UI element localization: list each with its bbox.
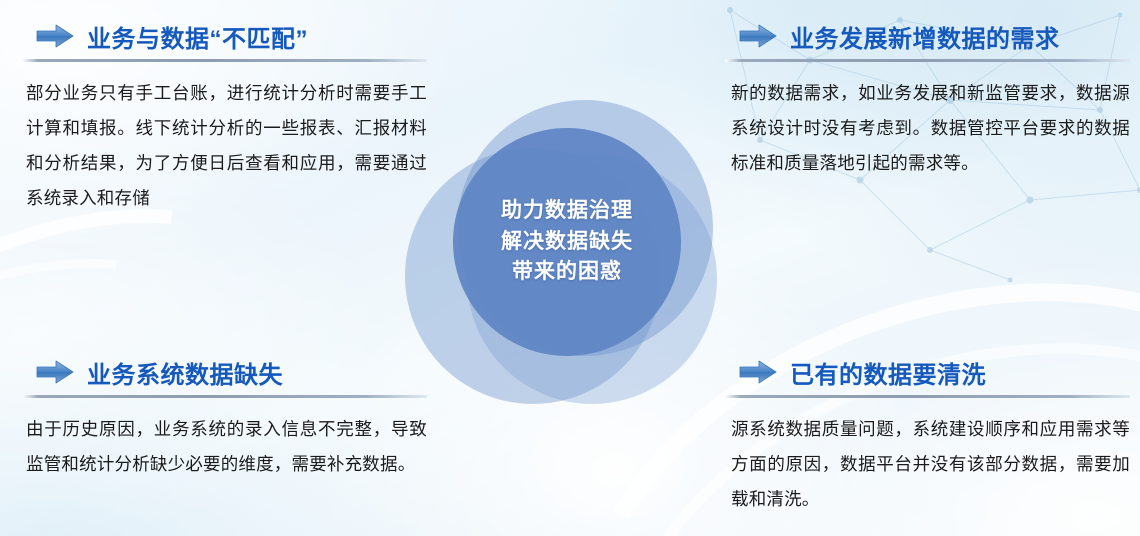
block-top-right-header: 业务发展新增数据的需求: [725, 16, 1130, 56]
block-bottom-right-header: 已有的数据要清洗: [725, 352, 1130, 392]
arrow-right-icon: [739, 359, 777, 385]
block-bottom-left-body: 由于历史原因，业务系统的录入信息不完整，导致监管和统计分析缺少必要的维度，需要补…: [22, 412, 427, 482]
block-bottom-left-header: 业务系统数据缺失: [22, 352, 427, 392]
center-circle-cluster: 助力数据治理 解决数据缺失 带来的困惑: [405, 100, 725, 410]
block-bottom-left-title: 业务系统数据缺失: [87, 355, 283, 390]
block-top-left-divider: [22, 59, 427, 62]
block-bottom-left-divider: [22, 395, 427, 398]
block-bottom-right: 已有的数据要清洗 源系统数据质量问题，系统建设顺序和应用需求等方面的原因，数据平…: [725, 352, 1130, 517]
block-top-right-divider: [725, 59, 1130, 62]
block-bottom-left: 业务系统数据缺失 由于历史原因，业务系统的录入信息不完整，导致监管和统计分析缺少…: [22, 352, 427, 482]
center-line-1: 助力数据治理: [501, 196, 633, 226]
block-top-left-body: 部分业务只有手工台账，进行统计分析时需要手工计算和填报。线下统计分析的一些报表、…: [22, 76, 427, 216]
block-top-right-body: 新的数据需求，如业务发展和新监管要求，数据源系统设计时没有考虑到。数据管控平台要…: [725, 76, 1130, 181]
center-circle-text: 助力数据治理 解决数据缺失 带来的困惑: [453, 128, 681, 356]
block-bottom-right-divider: [725, 395, 1130, 398]
center-line-2: 解决数据缺失: [501, 227, 633, 257]
arrow-right-icon: [36, 23, 74, 49]
block-bottom-right-title: 已有的数据要清洗: [790, 355, 986, 390]
block-top-right-title: 业务发展新增数据的需求: [790, 19, 1060, 54]
slide-canvas: 助力数据治理 解决数据缺失 带来的困惑 业务与数据“不匹配” 部分: [0, 0, 1140, 536]
block-bottom-right-body: 源系统数据质量问题，系统建设顺序和应用需求等方面的原因，数据平台并没有该部分数据…: [725, 412, 1130, 517]
center-line-3: 带来的困惑: [512, 257, 622, 287]
arrow-right-icon: [36, 359, 74, 385]
block-top-left: 业务与数据“不匹配” 部分业务只有手工台账，进行统计分析时需要手工计算和填报。线…: [22, 16, 427, 216]
block-top-right: 业务发展新增数据的需求 新的数据需求，如业务发展和新监管要求，数据源系统设计时没…: [725, 16, 1130, 181]
block-top-left-header: 业务与数据“不匹配”: [22, 16, 427, 56]
block-top-left-title: 业务与数据“不匹配”: [87, 19, 308, 54]
arrow-right-icon: [739, 23, 777, 49]
